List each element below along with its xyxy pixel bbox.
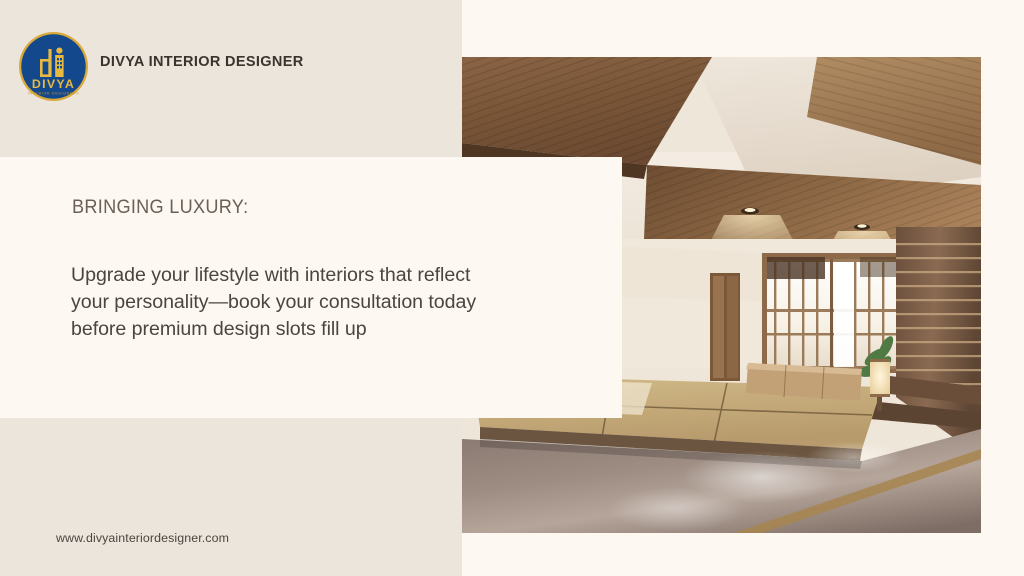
lattice-column — [710, 273, 740, 381]
footer-band — [0, 418, 462, 576]
svg-text:DIVYA: DIVYA — [32, 77, 75, 91]
brand-title: DIVYA INTERIOR DESIGNER — [100, 54, 304, 70]
headline: BRINGING LUXURY: — [72, 196, 248, 219]
divya-logo-icon: DIVYA INTERIOR DESIGNERS — [18, 31, 89, 102]
brand-header: DIVYA INTERIOR DESIGNERS DIVYA INTERIOR … — [0, 0, 462, 157]
body-copy: Upgrade your lifestyle with interiors th… — [71, 262, 491, 343]
slide-canvas: DIVYA INTERIOR DESIGNERS DIVYA INTERIOR … — [0, 0, 1024, 576]
svg-text:INTERIOR DESIGNERS: INTERIOR DESIGNERS — [28, 91, 80, 95]
website-url: www.divyainteriordesigner.com — [56, 531, 229, 545]
